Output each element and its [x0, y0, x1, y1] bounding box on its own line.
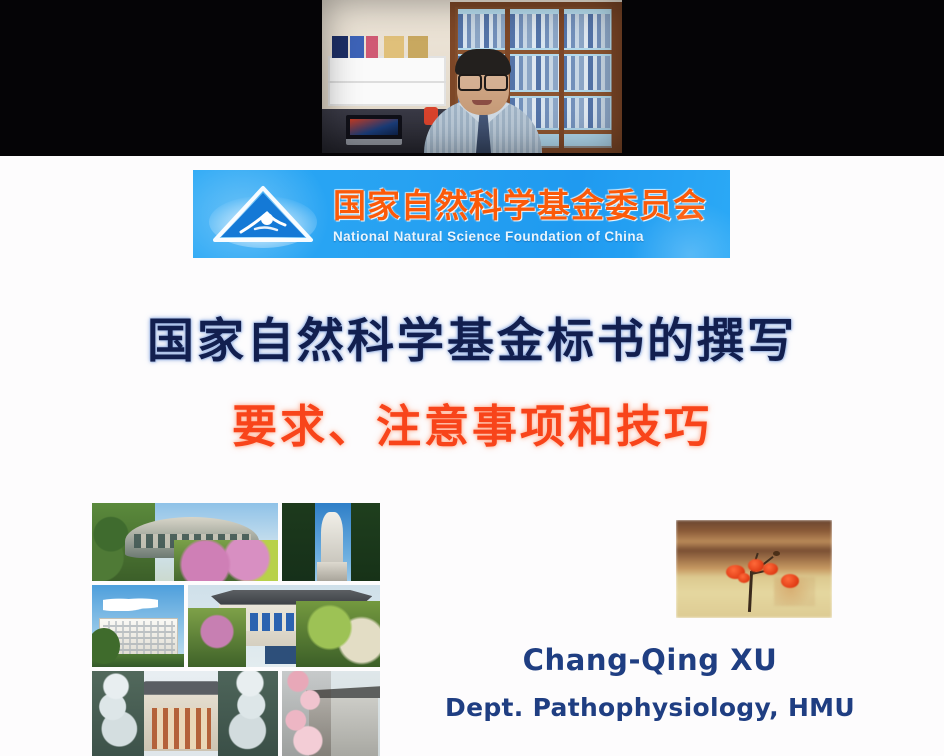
presenter-name: Chang-Qing XU: [440, 643, 860, 677]
nsfc-name-cn: 国家自然科学基金委员会: [333, 179, 720, 227]
slide-title-line2: 要求、注意事项和技巧: [0, 390, 944, 455]
screen-share-view: 国家自然科学基金委员会 National Natural Science Fou…: [0, 0, 944, 756]
collage-photo-2: [282, 503, 380, 581]
presenter-affiliation: Dept. Pathophysiology, HMU: [440, 693, 860, 722]
collage-photo-5: [92, 671, 278, 756]
nsfc-text-block: 国家自然科学基金委员会 National Natural Science Fou…: [333, 179, 720, 244]
video-strip: [0, 0, 944, 156]
slide-title-line1: 国家自然科学基金标书的撰写: [0, 302, 944, 371]
collage-photo-4: [188, 585, 380, 667]
collage-photo-3: [92, 585, 184, 667]
presentation-slide: 国家自然科学基金委员会 National Natural Science Fou…: [0, 156, 944, 756]
collage-photo-1: [92, 503, 278, 581]
collage-photo-6: [282, 671, 380, 756]
campus-photo-collage: [92, 503, 380, 756]
video-vignette: [322, 0, 622, 153]
nsfc-name-en: National Natural Science Foundation of C…: [333, 229, 720, 244]
nsfc-triangle-logo-icon: [207, 180, 319, 248]
red-flower-photo: [676, 520, 832, 618]
nsfc-banner: 国家自然科学基金委员会 National Natural Science Fou…: [193, 170, 730, 258]
presenter-video-tile[interactable]: [322, 0, 622, 153]
